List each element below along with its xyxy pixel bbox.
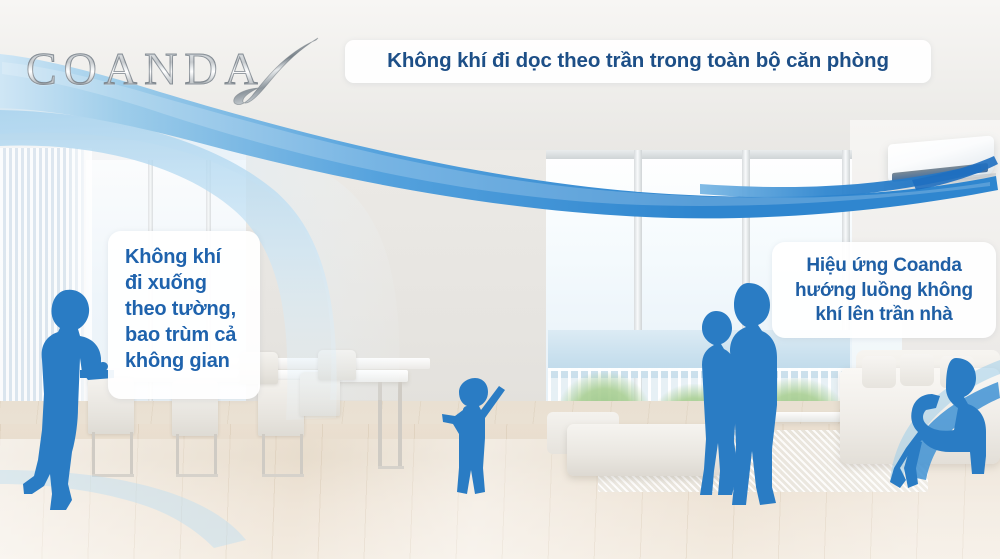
dining-chair [318, 350, 356, 380]
callout-left-line-3: theo tường, [125, 296, 260, 322]
callout-left: Không khí đi xuống theo tường, bao trùm … [108, 231, 260, 399]
callout-left-line-2: đi xuống [125, 270, 260, 296]
callout-right-line-2: hướng luồng không [782, 279, 986, 304]
callout-right: Hiệu ứng Coanda hướng luồng không khí lê… [772, 242, 996, 338]
silhouette-woman-carrying-tray [22, 288, 114, 518]
callout-right-line-3: khí lên trần nhà [782, 303, 986, 328]
silhouette-person-sitting-sofa [888, 356, 998, 494]
table-leg [378, 382, 382, 468]
chair-leg [130, 432, 133, 476]
chair-leg [300, 434, 303, 476]
dining-chair [258, 380, 304, 436]
coanda-logo-text: COANDA [26, 42, 265, 95]
coanda-airflow-infographic: COANDA Không khí đi dọc theo trần trong … [0, 0, 1000, 559]
callout-header-text: Không khí đi dọc theo trần trong toàn bộ… [387, 48, 889, 75]
callout-right-line-1: Hiệu ứng Coanda [782, 254, 986, 279]
chair-leg [176, 474, 218, 477]
coanda-logo: COANDA [26, 28, 316, 108]
table-leg [378, 466, 404, 469]
silhouette-child-arms-raised [441, 372, 507, 502]
chair-leg [214, 434, 217, 476]
callout-left-line-1: Không khí [125, 244, 260, 270]
callout-left-line-4: bao trùm cả [125, 322, 260, 348]
table-leg [398, 382, 402, 468]
coanda-swoosh-icon [230, 34, 320, 114]
chair-leg [262, 474, 304, 477]
callout-header: Không khí đi dọc theo trần trong toàn bộ… [345, 40, 931, 83]
chair-leg [262, 434, 265, 476]
silhouette-adult-holding-child [692, 281, 782, 513]
callout-left-line-5: không gian [125, 348, 260, 374]
chair-leg [176, 434, 179, 476]
